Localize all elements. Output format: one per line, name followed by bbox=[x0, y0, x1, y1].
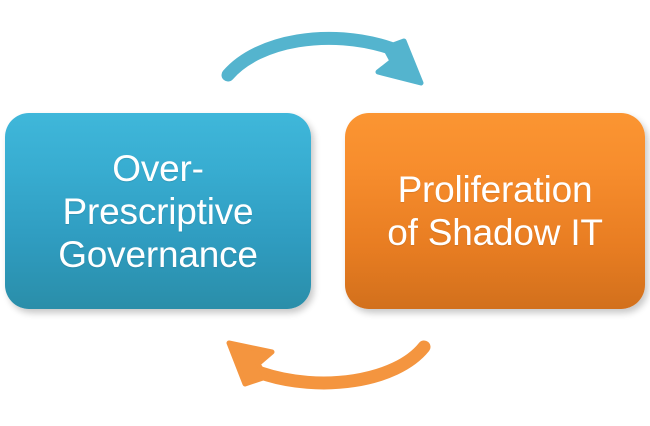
node-governance-label: Over- Prescriptive Governance bbox=[48, 147, 268, 276]
node-over-prescriptive-governance[interactable]: Over- Prescriptive Governance bbox=[5, 113, 311, 309]
arrow-shadow-it-to-governance bbox=[229, 343, 424, 384]
arrow-governance-to-shadow-it bbox=[228, 38, 421, 83]
diagram-canvas: Over- Prescriptive Governance Proliferat… bbox=[0, 0, 650, 426]
node-proliferation-of-shadow-it[interactable]: Proliferation of Shadow IT bbox=[345, 113, 645, 309]
node-shadow-it-label: Proliferation of Shadow IT bbox=[377, 168, 613, 254]
